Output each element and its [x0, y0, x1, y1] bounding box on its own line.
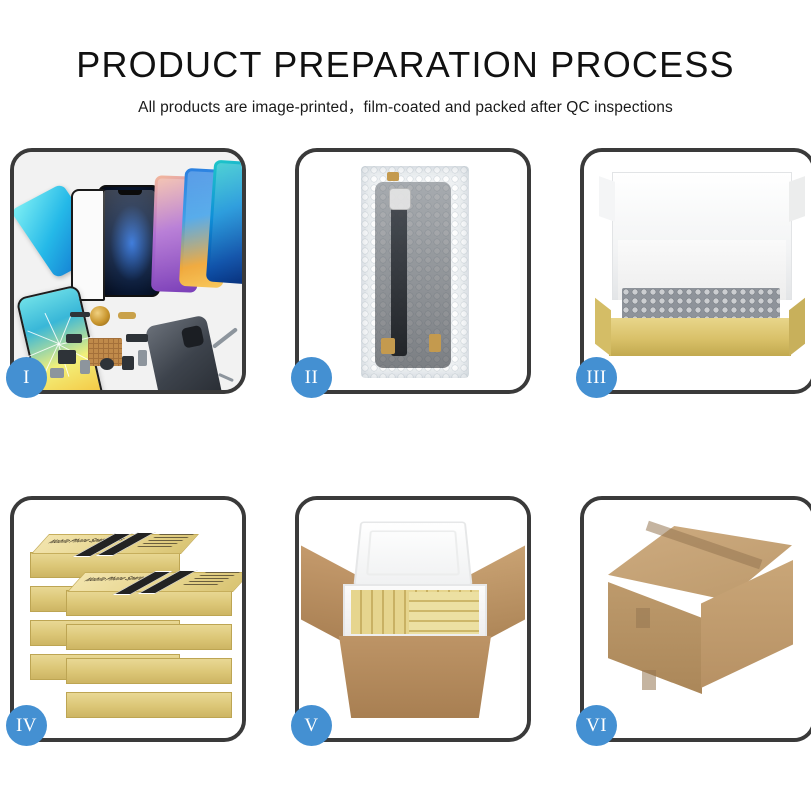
- small-part-d: [80, 360, 90, 374]
- process-steps-grid: I II III: [10, 148, 803, 748]
- tape-strip-1: [636, 608, 650, 628]
- gold-box-front-3: [66, 658, 232, 684]
- step-badge-1: I: [6, 357, 47, 398]
- gold-boxes-inside-foam-2: [409, 592, 479, 634]
- step-4-image: Mobile Phone Spare Parts Mobile Phone Sp…: [14, 500, 242, 738]
- tweezers-tool: [212, 327, 238, 349]
- phone-back-housing: [145, 315, 226, 390]
- gold-connector-bottom-right: [429, 334, 441, 352]
- process-step-panel-1: I: [10, 148, 246, 394]
- step-badge-6: VI: [576, 705, 617, 746]
- bubble-wrap-bag: [361, 166, 469, 378]
- small-part-e: [122, 356, 134, 370]
- tape-strip-2: [642, 670, 656, 690]
- step-6-image: [584, 500, 811, 738]
- gold-flex-part: [118, 312, 136, 319]
- copper-coil-part: [90, 306, 110, 326]
- step-1-image: [14, 152, 242, 390]
- bubble-padding-layer: [622, 288, 780, 322]
- screw-part: [218, 373, 234, 382]
- speaker-part: [100, 358, 114, 370]
- process-step-panel-4: Mobile Phone Spare Parts Mobile Phone Sp…: [10, 496, 246, 742]
- process-step-panel-2: II: [295, 148, 531, 394]
- gold-box-lid-2: Mobile Phone Spare Parts: [67, 572, 242, 592]
- crack-lines-icon: [59, 344, 60, 345]
- gold-box-lid-1: Mobile Phone Spare Parts: [31, 534, 199, 554]
- connector-part: [70, 312, 90, 317]
- step-2-image: [299, 152, 527, 390]
- process-step-panel-3: III: [580, 148, 811, 394]
- gold-box-tray: [609, 318, 791, 356]
- gold-box-front-4: [66, 692, 232, 718]
- gold-connector-top: [387, 172, 399, 181]
- process-step-panel-5: V: [295, 496, 531, 742]
- page-subtitle: All products are image-printed，film-coat…: [0, 95, 811, 117]
- product-preparation-page: PRODUCT PREPARATION PROCESS All products…: [0, 0, 811, 811]
- foam-box-lid: [353, 521, 472, 586]
- step-badge-5: V: [291, 705, 332, 746]
- step-3-image: [584, 152, 811, 390]
- flex-cable: [391, 206, 407, 356]
- page-title: PRODUCT PREPARATION PROCESS: [0, 46, 811, 84]
- carton-front-panel: [339, 636, 491, 718]
- step-badge-2: II: [291, 357, 332, 398]
- gold-box-front-2: [66, 624, 232, 650]
- gold-box-front-1: Mobile Phone Spare Parts: [66, 590, 232, 616]
- small-part-b: [126, 334, 148, 342]
- process-step-panel-6: VI: [580, 496, 811, 742]
- step-badge-4: IV: [6, 705, 47, 746]
- small-part-a: [66, 334, 82, 343]
- step-5-image: [299, 500, 527, 738]
- gold-box-stack: Mobile Phone Spare Parts Mobile Phone Sp…: [26, 516, 232, 722]
- small-part-f: [138, 350, 147, 366]
- page-header: PRODUCT PREPARATION PROCESS All products…: [0, 0, 811, 117]
- small-part-g: [50, 368, 64, 378]
- step-badge-3: III: [576, 357, 617, 398]
- small-part-c: [58, 350, 76, 364]
- gold-connector-bottom-left: [381, 338, 395, 354]
